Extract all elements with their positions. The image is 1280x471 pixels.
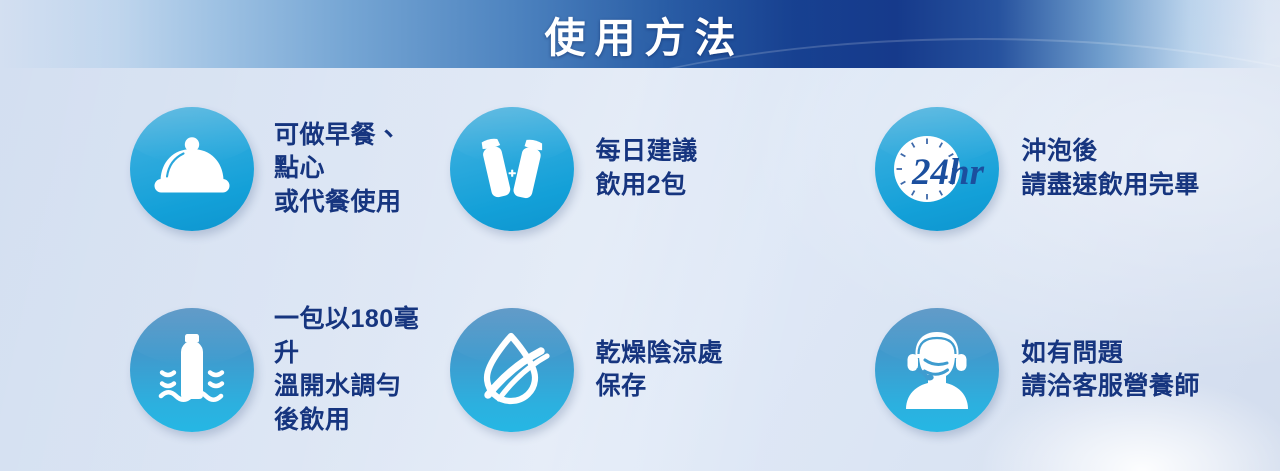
usage-item-caption: 每日建議 飲用2包 — [596, 135, 698, 202]
usage-item: 每日建議 飲用2包 — [427, 68, 854, 270]
no-moisture-droplet-icon — [471, 329, 553, 411]
usage-item: 如有問題 請洽客服營養師 — [853, 270, 1280, 471]
icon-badge — [875, 308, 999, 432]
usage-item: 24hr 沖泡後 請盡速飲用完畢 — [853, 68, 1280, 270]
page-title: 使用方法 — [0, 0, 1280, 68]
usage-item-caption: 一包以180毫升 溫開水調勻後飲用 — [274, 303, 427, 437]
usage-item-caption: 如有問題 請洽客服營養師 — [1021, 337, 1200, 404]
usage-item-caption: 可做早餐、點心 或代餐使用 — [274, 119, 427, 220]
icon-badge: 24hr — [875, 107, 999, 231]
usage-instructions-page: 使用方法 可做早餐、點心 或代餐使用 — [0, 0, 1280, 471]
usage-item-caption: 乾燥陰涼處 保存 — [596, 337, 724, 404]
two-sachets-plus-icon — [472, 130, 552, 208]
icon-badge — [450, 107, 574, 231]
icon-badge — [130, 308, 254, 432]
page-banner: 使用方法 — [0, 0, 1280, 68]
usage-item: 可做早餐、點心 或代餐使用 — [0, 68, 427, 270]
usage-item-caption: 沖泡後 請盡速飲用完畢 — [1021, 135, 1200, 202]
usage-items-grid: 可做早餐、點心 或代餐使用 — [0, 68, 1280, 471]
usage-item: 乾燥陰涼處 保存 — [427, 270, 854, 471]
food-cloche-icon — [153, 134, 231, 204]
usage-item: 一包以180毫升 溫開水調勻後飲用 — [0, 270, 427, 471]
customer-service-headset-icon — [895, 327, 979, 413]
icon-badge — [450, 308, 574, 432]
bottle-in-water-icon — [150, 328, 234, 412]
clock-24hr-icon: 24hr — [887, 127, 987, 211]
icon-badge — [130, 107, 254, 231]
clock-24hr-label: 24hr — [911, 152, 985, 193]
